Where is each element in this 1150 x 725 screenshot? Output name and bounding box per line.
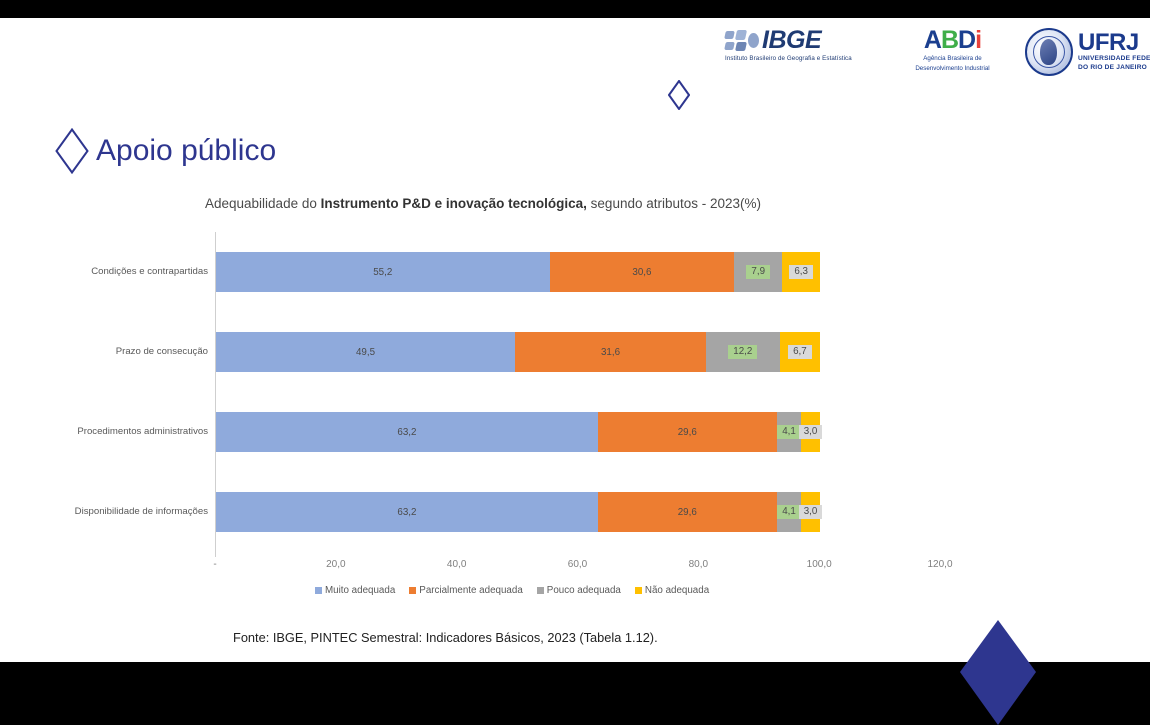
x-tick-label: - <box>213 559 216 570</box>
ibge-logo-wordmark: IBGE <box>762 28 821 53</box>
bar-value-label: 3,0 <box>799 505 823 518</box>
bar-value-label: 55,2 <box>373 267 392 278</box>
ibge-logo: IBGE Instituto Brasileiro de Geografia e… <box>725 28 875 62</box>
ufrj-logo-wordmark: UFRJ <box>1078 29 1139 56</box>
top-black-band <box>0 0 1150 18</box>
ufrj-logo-subtitle-line1: UNIVERSIDADE FEDERAL <box>1078 55 1150 63</box>
bar-value-label: 31,6 <box>601 347 620 358</box>
bar-value-label: 3,0 <box>799 425 823 438</box>
source-note: Fonte: IBGE, PINTEC Semestral: Indicador… <box>233 630 658 645</box>
bar-value-label: 49,5 <box>356 347 375 358</box>
diamond-outline-icon-title <box>55 128 89 174</box>
bar-segment: 12,2 <box>706 332 780 372</box>
abdi-logo: ABDi Agência Brasileira de Desenvolvimen… <box>895 28 1010 73</box>
chart-title-emphasis: Instrumento P&D e inovação tecnológica, <box>321 196 587 211</box>
x-tick-label: 60,0 <box>568 559 587 570</box>
x-tick-label: 120,0 <box>927 559 952 570</box>
category-axis-label: Prazo de consecução <box>116 346 208 357</box>
bar-segment: 31,6 <box>515 332 706 372</box>
bar-value-label: 4,1 <box>777 505 801 518</box>
category-axis-label: Procedimentos administrativos <box>77 426 208 437</box>
x-tick-label: 80,0 <box>689 559 708 570</box>
chart-plot-area: Condições e contrapartidas55,230,67,96,3… <box>215 232 940 557</box>
ufrj-logo-subtitle-line2: DO RIO DE JANEIRO <box>1078 64 1150 72</box>
bar-segment: 7,9 <box>734 252 782 292</box>
chart-title: Adequabilidade do Instrumento P&D e inov… <box>205 196 925 211</box>
bar-segment: 30,6 <box>550 252 735 292</box>
bar-segment: 63,2 <box>216 492 598 532</box>
legend-label: Não adequada <box>645 585 709 596</box>
bar-segment: 29,6 <box>598 412 777 452</box>
legend-label: Pouco adequada <box>547 585 621 596</box>
category-axis-label: Disponibilidade de informações <box>75 506 208 517</box>
legend-label: Parcialmente adequada <box>419 585 523 596</box>
logo-group: IBGE Instituto Brasileiro de Geografia e… <box>725 28 1145 90</box>
bar-segment: 49,5 <box>216 332 515 372</box>
category-axis-label: Condições e contrapartidas <box>91 266 208 277</box>
page-title: Apoio público <box>96 128 276 174</box>
x-tick-label: 20,0 <box>326 559 345 570</box>
ufrj-seal-icon <box>1025 28 1073 76</box>
abdi-logo-wordmark: ABDi <box>895 28 1010 53</box>
chart-title-prefix: Adequabilidade do <box>205 196 321 211</box>
x-axis-tick-labels: -20,040,060,080,0100,0120,0 <box>215 559 940 577</box>
x-tick-label: 100,0 <box>807 559 832 570</box>
bar-segment: 55,2 <box>216 252 550 292</box>
legend-label: Muito adequada <box>325 585 395 596</box>
bar-segment: 63,2 <box>216 412 598 452</box>
legend-color-swatch <box>537 587 544 594</box>
bar-value-label: 30,6 <box>632 267 651 278</box>
x-tick-label: 40,0 <box>447 559 466 570</box>
legend-item[interactable]: Pouco adequada <box>537 585 621 596</box>
bar-value-label: 63,2 <box>397 427 416 438</box>
legend-item[interactable]: Muito adequada <box>315 585 395 596</box>
bar-segment: 29,6 <box>598 492 777 532</box>
bar-value-label: 6,3 <box>789 265 813 278</box>
diamond-outline-icon-small <box>668 80 690 110</box>
ufrj-logo: UFRJ UNIVERSIDADE FEDERAL DO RIO DE JANE… <box>1025 28 1150 76</box>
legend-color-swatch <box>635 587 642 594</box>
legend-color-swatch <box>409 587 416 594</box>
abdi-logo-subtitle-line2: Desenvolvimento Industrial <box>895 65 1010 73</box>
bar-value-label: 4,1 <box>777 425 801 438</box>
abdi-logo-subtitle-line1: Agência Brasileira de <box>895 55 1010 63</box>
bar-value-label: 12,2 <box>728 345 757 358</box>
ibge-mark-icon <box>725 29 759 53</box>
ibge-logo-subtitle: Instituto Brasileiro de Geografia e Esta… <box>725 55 875 62</box>
bar-value-label: 29,6 <box>678 507 697 518</box>
chart-legend: Muito adequadaParcialmente adequadaPouco… <box>315 585 709 596</box>
bar-segment: 6,3 <box>782 252 820 292</box>
legend-color-swatch <box>315 587 322 594</box>
bar-value-label: 6,7 <box>788 345 812 358</box>
bar-value-label: 63,2 <box>397 507 416 518</box>
bar-segment: 3,0 <box>801 412 819 452</box>
chart-title-suffix: segundo atributos - 2023(%) <box>587 196 761 211</box>
bar-segment: 6,7 <box>780 332 820 372</box>
bar-value-label: 29,6 <box>678 427 697 438</box>
legend-item[interactable]: Não adequada <box>635 585 709 596</box>
diamond-filled-icon-large <box>960 620 1036 725</box>
bar-value-label: 7,9 <box>746 265 770 278</box>
bar-segment: 3,0 <box>801 492 819 532</box>
legend-item[interactable]: Parcialmente adequada <box>409 585 523 596</box>
